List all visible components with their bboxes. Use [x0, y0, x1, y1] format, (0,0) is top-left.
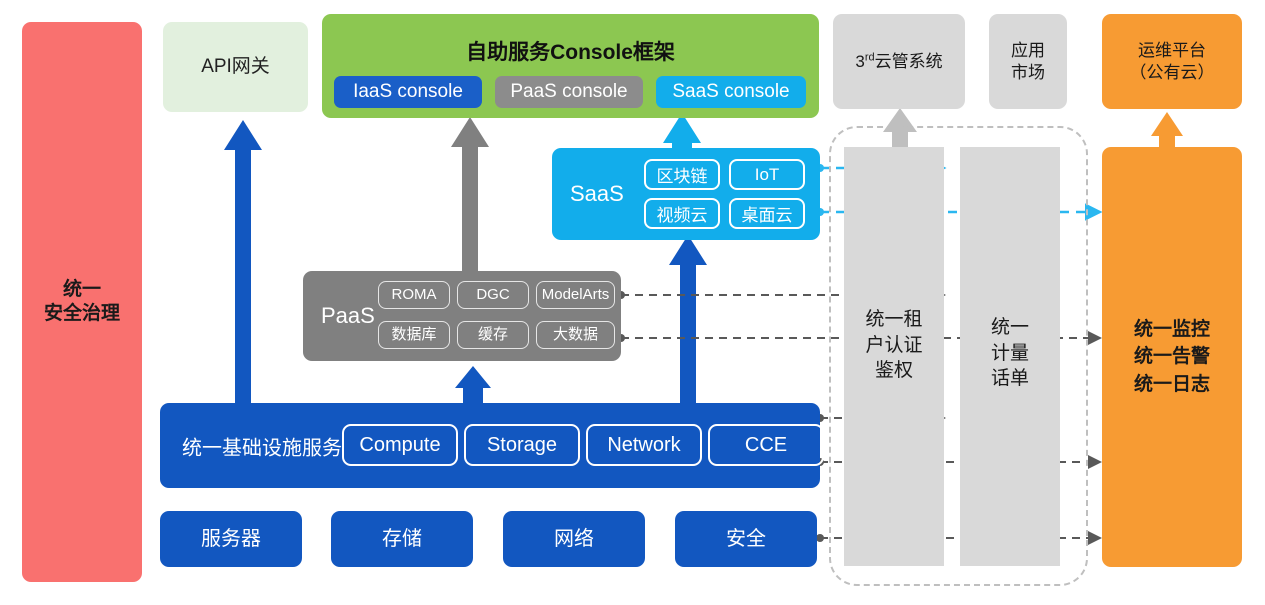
chip-storage[interactable]: Storage: [464, 424, 580, 466]
panel-unified-monitoring-alarm-log: 统一监控 统一告警 统一日志: [1102, 147, 1242, 567]
arrow-infra-to-saas: [669, 235, 707, 405]
console-framework-title: 自助服务Console框架: [322, 36, 819, 66]
panel-self-service-console-framework: 自助服务Console框架 IaaS console PaaS console …: [322, 14, 819, 118]
chip-compute[interactable]: Compute: [342, 424, 458, 466]
pill-iaas-console[interactable]: IaaS console: [334, 76, 482, 108]
column-unified-metering-billing-label: 统一 计量 话单: [960, 315, 1060, 392]
column-unified-tenant-auth-label: 统一租 户认证 鉴权: [844, 307, 944, 384]
chip-iot[interactable]: IoT: [729, 159, 805, 190]
chip-network[interactable]: Network: [586, 424, 702, 466]
panel-ops-platform-public-cloud: 运维平台 （公有云）: [1102, 14, 1242, 109]
panel-unified-infrastructure-services: 统一基础设施服务 Compute Storage Network CCE: [160, 403, 820, 488]
panel-servers: 服务器: [160, 511, 302, 567]
chip-bigdata[interactable]: 大数据: [536, 321, 615, 349]
architecture-diagram: 统一 安全治理 API网关 自助服务Console框架 IaaS console…: [0, 0, 1265, 605]
chip-database[interactable]: 数据库: [378, 321, 450, 349]
third-party-label: 3rd云管系统: [855, 51, 942, 72]
paas-label: PaaS: [321, 303, 375, 329]
panel-storage: 存储: [331, 511, 473, 567]
panel-api-gateway: API网关: [163, 22, 308, 112]
panel-app-market: 应用 市场: [989, 14, 1067, 109]
chip-cache[interactable]: 缓存: [457, 321, 529, 349]
chip-modelarts[interactable]: ModelArts: [536, 281, 615, 309]
chip-desktop-cloud[interactable]: 桌面云: [729, 198, 805, 229]
saas-label: SaaS: [570, 181, 624, 207]
panel-network: 网络: [503, 511, 645, 567]
chip-roma[interactable]: ROMA: [378, 281, 450, 309]
arrow-ops-column-to-platform: [1151, 112, 1183, 150]
chip-dgc[interactable]: DGC: [457, 281, 529, 309]
arrow-paas-to-console: [451, 117, 489, 272]
panel-third-party-cloud-management: 3rd云管系统: [833, 14, 965, 109]
pill-paas-console[interactable]: PaaS console: [495, 76, 643, 108]
pill-saas-console[interactable]: SaaS console: [656, 76, 806, 108]
chip-video-cloud[interactable]: 视频云: [644, 198, 720, 229]
chip-cce[interactable]: CCE: [708, 424, 824, 466]
panel-security: 安全: [675, 511, 817, 567]
column-unified-metering-billing: 统一 计量 话单: [960, 147, 1060, 566]
arrow-infra-to-apigateway: [224, 120, 262, 405]
column-unified-tenant-auth: 统一租 户认证 鉴权: [844, 147, 944, 566]
arrow-infra-to-paas: [455, 366, 491, 404]
arrow-saas-to-console: [663, 113, 701, 152]
panel-unified-security-governance: 统一 安全治理: [22, 22, 142, 582]
chip-blockchain[interactable]: 区块链: [644, 159, 720, 190]
panel-saas: SaaS 区块链 IoT 视频云 桌面云: [552, 148, 820, 240]
panel-paas: PaaS ROMA DGC ModelArts 数据库 缓存 大数据: [303, 271, 621, 361]
infrastructure-label: 统一基础设施服务: [182, 431, 342, 460]
